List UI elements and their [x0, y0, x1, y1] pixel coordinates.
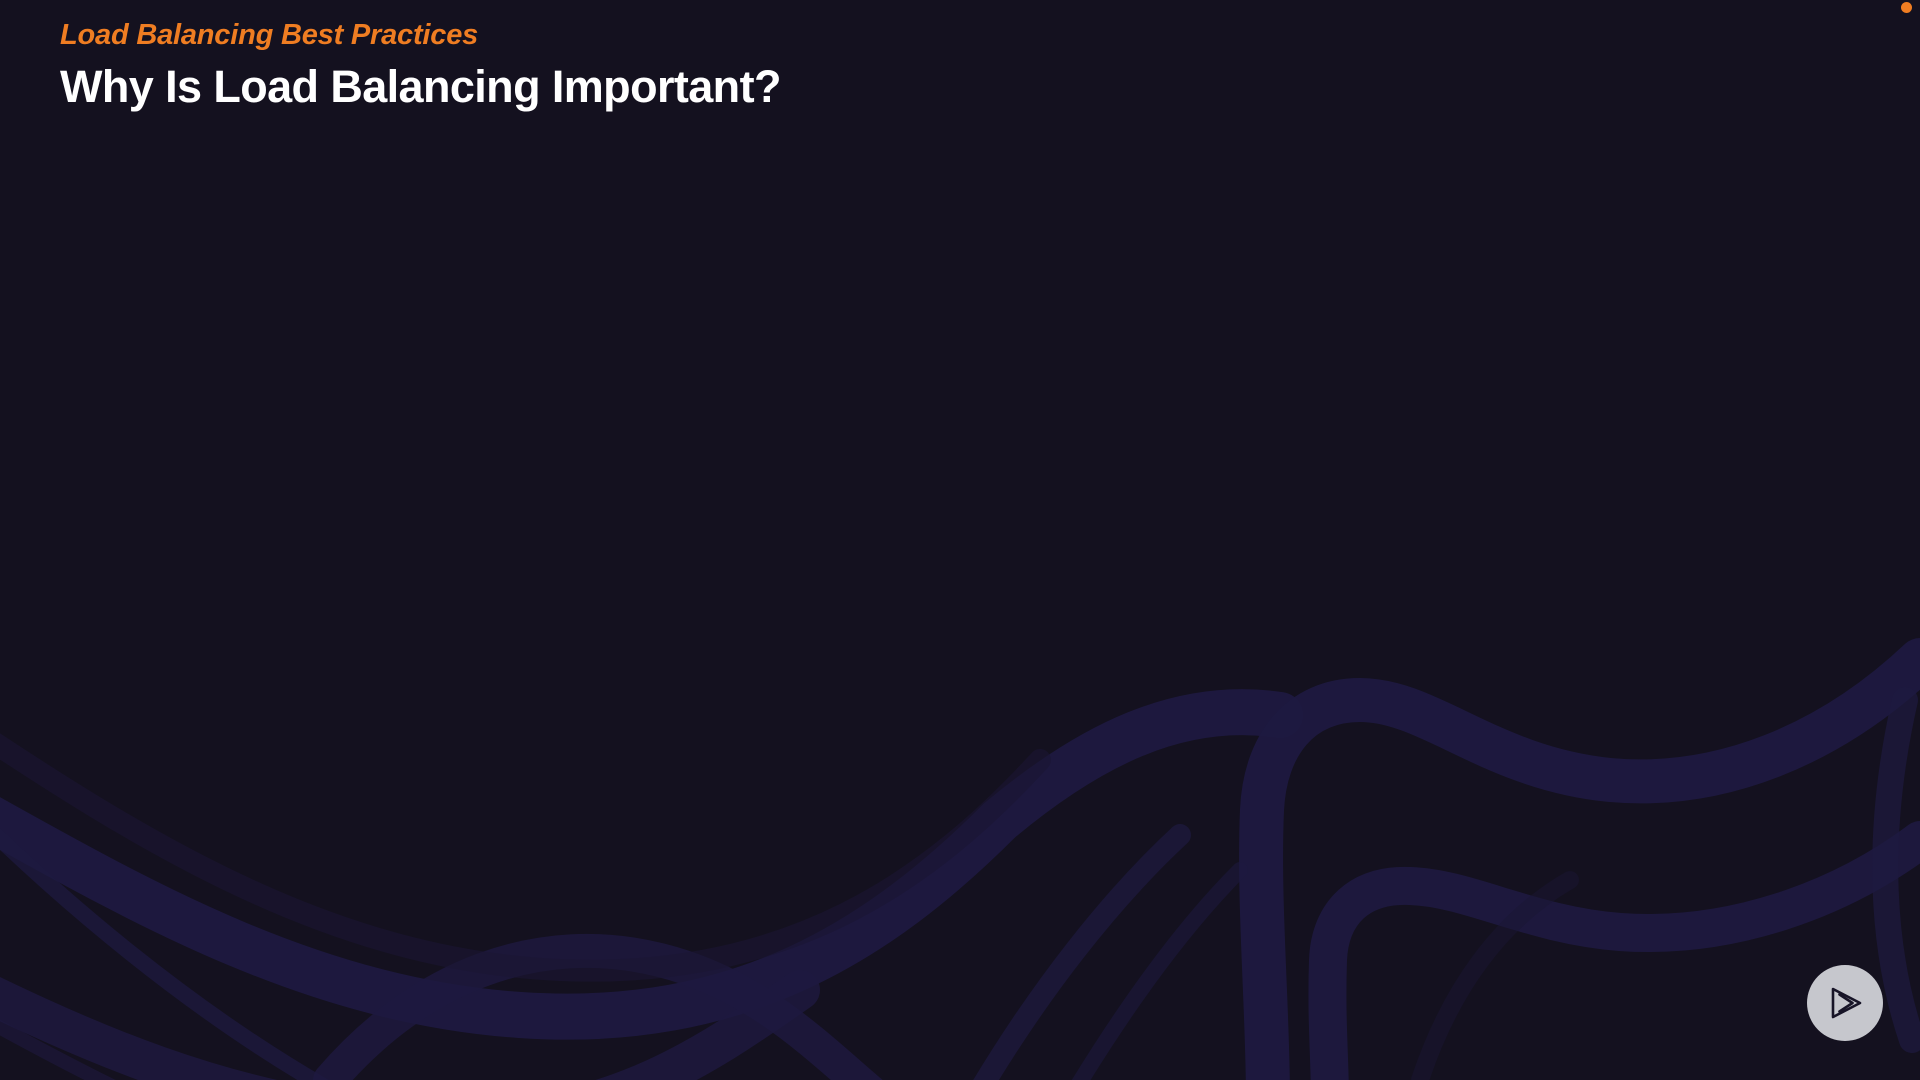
play-double-chevron-glyph [1824, 982, 1866, 1024]
slide-stage: Load Balancing Best Practices Why Is Loa… [0, 0, 1920, 1080]
page-title: Why Is Load Balancing Important? [60, 61, 781, 113]
slide-eyebrow: Load Balancing Best Practices [60, 18, 781, 53]
play-double-chevron-icon[interactable] [1807, 965, 1883, 1041]
abstract-wave-lines [0, 0, 1920, 1080]
status-dot-icon [1901, 2, 1912, 13]
title-block: Load Balancing Best Practices Why Is Loa… [60, 18, 781, 113]
